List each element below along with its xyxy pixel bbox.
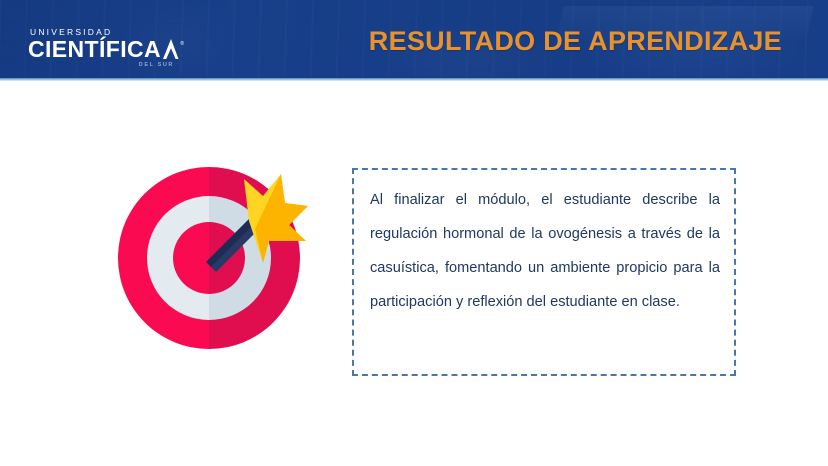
chevron-mark-icon: ® xyxy=(162,38,179,60)
callout-inner: Al finalizar el módulo, el estudiante de… xyxy=(370,183,720,319)
learning-outcome-text: Al finalizar el módulo, el estudiante de… xyxy=(370,183,720,319)
trademark-symbol: ® xyxy=(180,42,184,47)
header-bottom-edge xyxy=(0,78,828,81)
logo-wordmark: CIENTÍFICA ® xyxy=(28,38,178,60)
slide-root: UNIVERSIDAD CIENTÍFICA ® DEL SUR RESULTA… xyxy=(0,0,828,466)
logo-cientifica-text: CIENTÍFICA xyxy=(28,38,161,60)
page-title: RESULTADO DE APRENDIZAJE xyxy=(369,26,782,57)
logo-delsur-text: DEL SUR xyxy=(28,62,178,68)
target-dart-icon xyxy=(103,167,315,349)
university-logo: UNIVERSIDAD CIENTÍFICA ® DEL SUR xyxy=(28,27,178,67)
target-dart-svg xyxy=(103,167,315,349)
learning-outcome-callout: Al finalizar el módulo, el estudiante de… xyxy=(352,168,736,376)
